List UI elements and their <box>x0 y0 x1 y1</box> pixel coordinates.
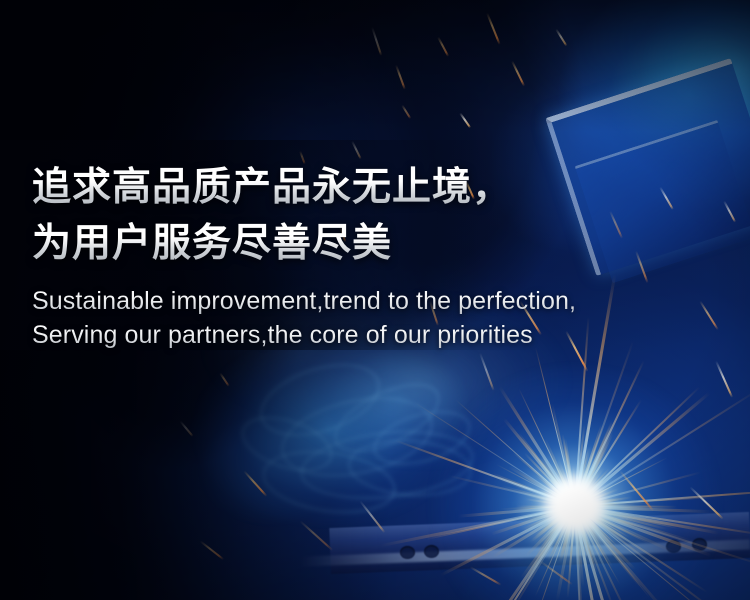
spark <box>459 112 471 128</box>
spark <box>401 104 411 119</box>
chinese-headline: 追求高品质产品永无止境， 为用户服务尽善尽美 <box>32 160 722 272</box>
hero-banner: 追求高品质产品永无止境， 为用户服务尽善尽美 Sustainable impro… <box>0 0 750 600</box>
spark <box>371 27 382 56</box>
spark <box>179 420 193 437</box>
spark <box>486 13 501 45</box>
english-subhead: Sustainable improvement,trend to the per… <box>32 284 722 352</box>
chinese-headline-line-2: 为用户服务尽善尽美 <box>32 216 722 272</box>
spark <box>437 37 449 57</box>
english-subhead-line-1: Sustainable improvement,trend to the per… <box>32 284 722 318</box>
spark <box>395 65 406 90</box>
spark <box>511 61 525 87</box>
hero-copy: 追求高品质产品永无止境， 为用户服务尽善尽美 Sustainable impro… <box>32 160 722 352</box>
spark <box>715 361 733 398</box>
chinese-headline-line-1: 追求高品质产品永无止境， <box>32 160 722 216</box>
spark <box>479 353 495 391</box>
english-subhead-line-2: Serving our partners,the core of our pri… <box>32 318 722 352</box>
spark <box>219 372 230 386</box>
spark <box>555 28 567 46</box>
spark <box>199 540 224 560</box>
bolt-hole <box>400 546 415 559</box>
spark <box>299 520 333 551</box>
